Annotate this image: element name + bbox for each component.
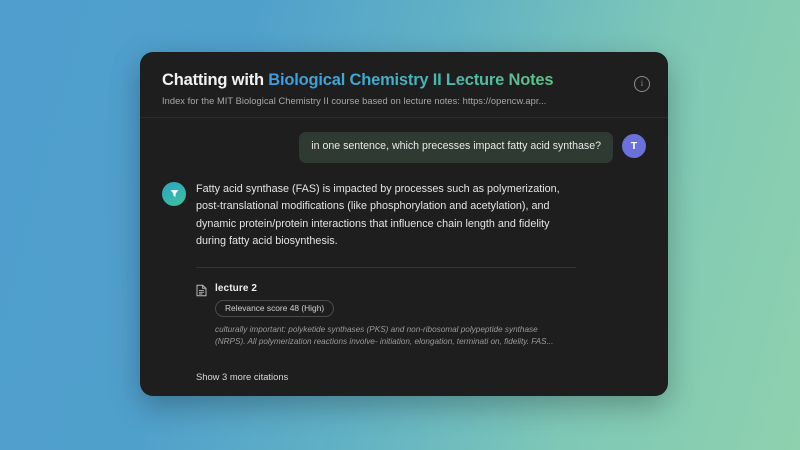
document-icon bbox=[196, 284, 207, 302]
funnel-icon bbox=[162, 182, 186, 206]
user-message-bubble: in one sentence, which precesses impact … bbox=[299, 132, 613, 163]
page-title: Chatting with Biological Chemistry II Le… bbox=[162, 71, 646, 91]
page-title-document-name: Biological Chemistry II Lecture Notes bbox=[268, 71, 553, 89]
citation-title: lecture 2 bbox=[215, 283, 646, 294]
chat-card: Chatting with Biological Chemistry II Le… bbox=[140, 52, 668, 396]
conversation-thread: in one sentence, which precesses impact … bbox=[140, 118, 668, 395]
info-icon[interactable]: i bbox=[634, 76, 650, 92]
page-subtitle: Index for the MIT Biological Chemistry I… bbox=[162, 96, 646, 106]
assistant-message-text: Fatty acid synthase (FAS) is impacted by… bbox=[196, 181, 564, 251]
citation-card[interactable]: lecture 2 Relevance score 48 (High) cult… bbox=[196, 283, 646, 349]
message-divider bbox=[196, 267, 576, 268]
page-title-prefix: Chatting with bbox=[162, 71, 268, 89]
avatar[interactable]: T bbox=[622, 134, 646, 158]
relevance-score-badge: Relevance score 48 (High) bbox=[215, 300, 334, 318]
citation-snippet: culturally important: polyketide synthas… bbox=[215, 324, 563, 349]
show-more-citations-button[interactable]: Show 3 more citations bbox=[196, 371, 288, 382]
assistant-message-row: Fatty acid synthase (FAS) is impacted by… bbox=[162, 181, 646, 251]
user-message-row: in one sentence, which precesses impact … bbox=[162, 132, 646, 163]
citation-body: lecture 2 Relevance score 48 (High) cult… bbox=[215, 283, 646, 349]
card-header: Chatting with Biological Chemistry II Le… bbox=[140, 52, 668, 118]
